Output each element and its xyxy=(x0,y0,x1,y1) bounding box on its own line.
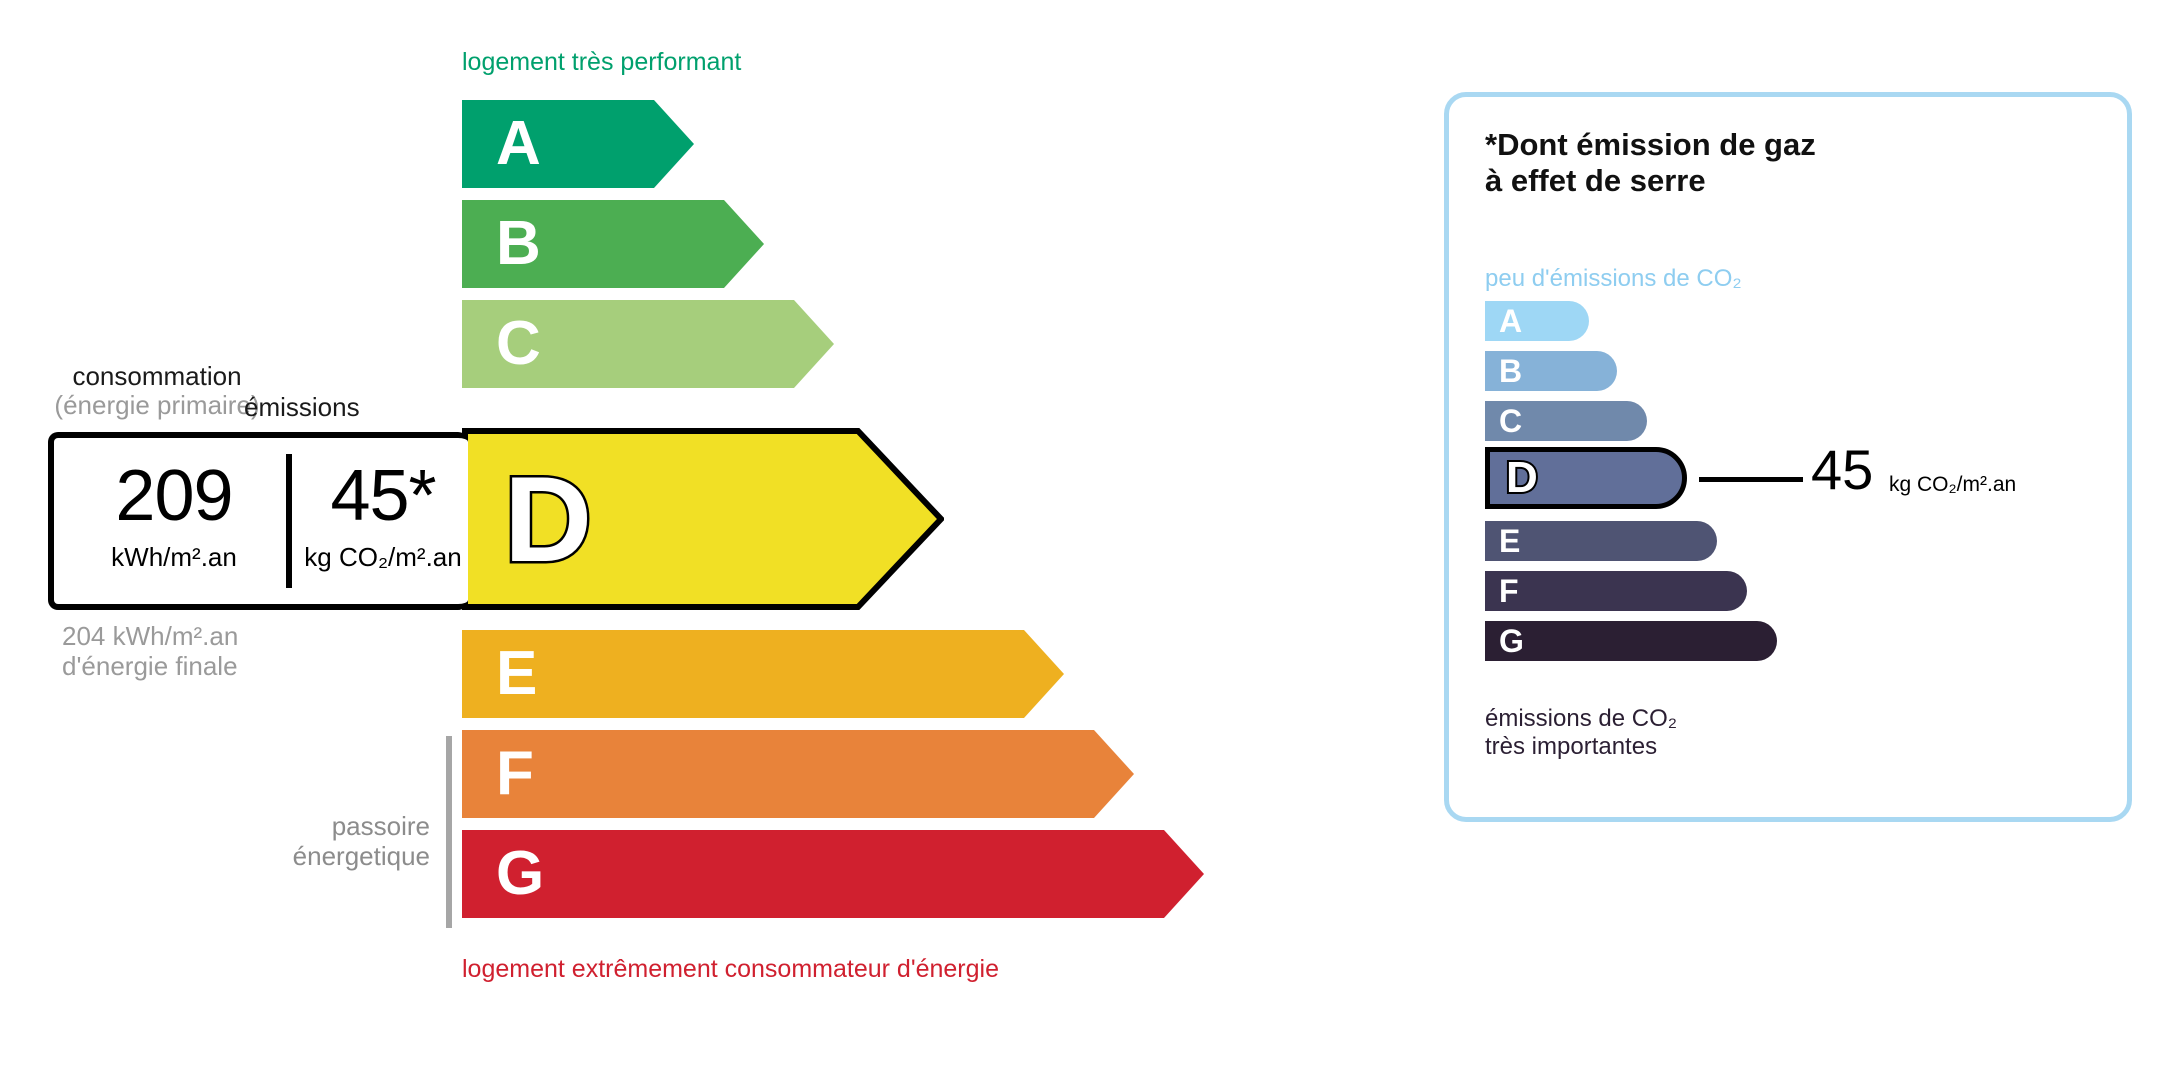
ges-title-line2: à effet de serre xyxy=(1485,163,1816,199)
energy-bar-c[interactable]: C xyxy=(462,300,834,388)
passoire-line1: passoire xyxy=(180,812,430,842)
dpe-value-box: 209 kWh/m².an 45* kg CO₂/m².an xyxy=(48,432,468,610)
emissions-value: 45* xyxy=(298,460,468,532)
ges-bar-c[interactable]: C xyxy=(1485,401,1647,441)
energy-bar-c-letter: C xyxy=(496,313,541,375)
ges-bar-f-letter: F xyxy=(1499,575,1519,607)
energy-bar-g[interactable]: G xyxy=(462,830,1204,918)
energy-bottom-caption: logement extrêmement consommateur d'éner… xyxy=(462,955,999,984)
consumption-label-sub: (énergie primaire) xyxy=(44,391,270,420)
ges-bar-e-letter: E xyxy=(1499,525,1520,557)
energy-bar-e-letter: E xyxy=(496,643,537,705)
ges-bar-d-current[interactable]: D xyxy=(1485,447,1687,509)
ges-bar-b-letter: B xyxy=(1499,355,1522,387)
energy-bar-d-letter: D xyxy=(504,458,592,580)
value-box-divider xyxy=(286,454,292,588)
ges-bar-a[interactable]: A xyxy=(1485,301,1589,341)
ges-bottom-caption: émissions de CO₂ très importantes xyxy=(1485,705,1677,762)
ges-bar-f[interactable]: F xyxy=(1485,571,1747,611)
ges-callout-value: 45 xyxy=(1811,442,1873,498)
energy-bar-a[interactable]: A xyxy=(462,100,694,188)
ges-bar-b[interactable]: B xyxy=(1485,351,1617,391)
ges-bar-a-letter: A xyxy=(1499,305,1522,337)
consumption-value-cell: 209 kWh/m².an xyxy=(64,460,284,573)
ges-bottom-caption-line2: très importantes xyxy=(1485,733,1677,761)
consumption-label: consommation (énergie primaire) xyxy=(44,362,270,420)
energy-top-caption: logement très performant xyxy=(462,48,741,77)
emissions-unit: kg CO₂/m².an xyxy=(298,542,468,573)
energy-bar-f-shape xyxy=(462,730,1134,818)
ges-callout-leader-line xyxy=(1699,477,1803,482)
ges-bar-e[interactable]: E xyxy=(1485,521,1717,561)
final-energy-line1: 204 kWh/m².an xyxy=(62,622,238,652)
ges-panel: *Dont émission de gaz à effet de serre p… xyxy=(1444,92,2132,822)
energy-bar-g-letter: G xyxy=(496,843,544,905)
consumption-unit: kWh/m².an xyxy=(64,542,284,573)
energy-bar-e-shape xyxy=(462,630,1064,718)
consumption-value: 209 xyxy=(64,460,284,532)
ges-bar-g-letter: G xyxy=(1499,625,1524,657)
ges-bar-c-letter: C xyxy=(1499,405,1522,437)
ges-bar-g[interactable]: G xyxy=(1485,621,1777,661)
ges-title: *Dont émission de gaz à effet de serre xyxy=(1485,127,1816,199)
ges-bottom-caption-line1: émissions de CO₂ xyxy=(1485,705,1677,733)
energy-bar-a-letter: A xyxy=(496,113,541,175)
ges-callout-unit: kg CO₂/m².an xyxy=(1889,473,2016,497)
ges-top-caption: peu d'émissions de CO₂ xyxy=(1485,265,1742,293)
energy-bar-f[interactable]: F xyxy=(462,730,1134,818)
energy-bar-f-letter: F xyxy=(496,743,534,805)
emissions-value-cell: 45* kg CO₂/m².an xyxy=(298,460,468,573)
dpe-energy-diagram: logement très performant A B C D E xyxy=(0,0,1420,1079)
energy-bar-d-current[interactable]: D xyxy=(462,428,944,610)
energy-bar-e[interactable]: E xyxy=(462,630,1064,718)
final-energy-label: 204 kWh/m².an d'énergie finale xyxy=(62,622,238,682)
passoire-bracket xyxy=(446,736,452,928)
passoire-line2: énergetique xyxy=(180,842,430,872)
emissions-label: émissions xyxy=(244,392,444,423)
energy-bar-b-letter: B xyxy=(496,213,541,275)
ges-title-line1: *Dont émission de gaz xyxy=(1485,127,1816,163)
passoire-label: passoire énergetique xyxy=(180,812,430,872)
energy-bar-g-shape xyxy=(462,830,1204,918)
ges-bar-d-letter: D xyxy=(1506,456,1538,500)
consumption-label-main: consommation xyxy=(72,361,241,391)
energy-bar-b[interactable]: B xyxy=(462,200,764,288)
final-energy-line2: d'énergie finale xyxy=(62,652,238,682)
